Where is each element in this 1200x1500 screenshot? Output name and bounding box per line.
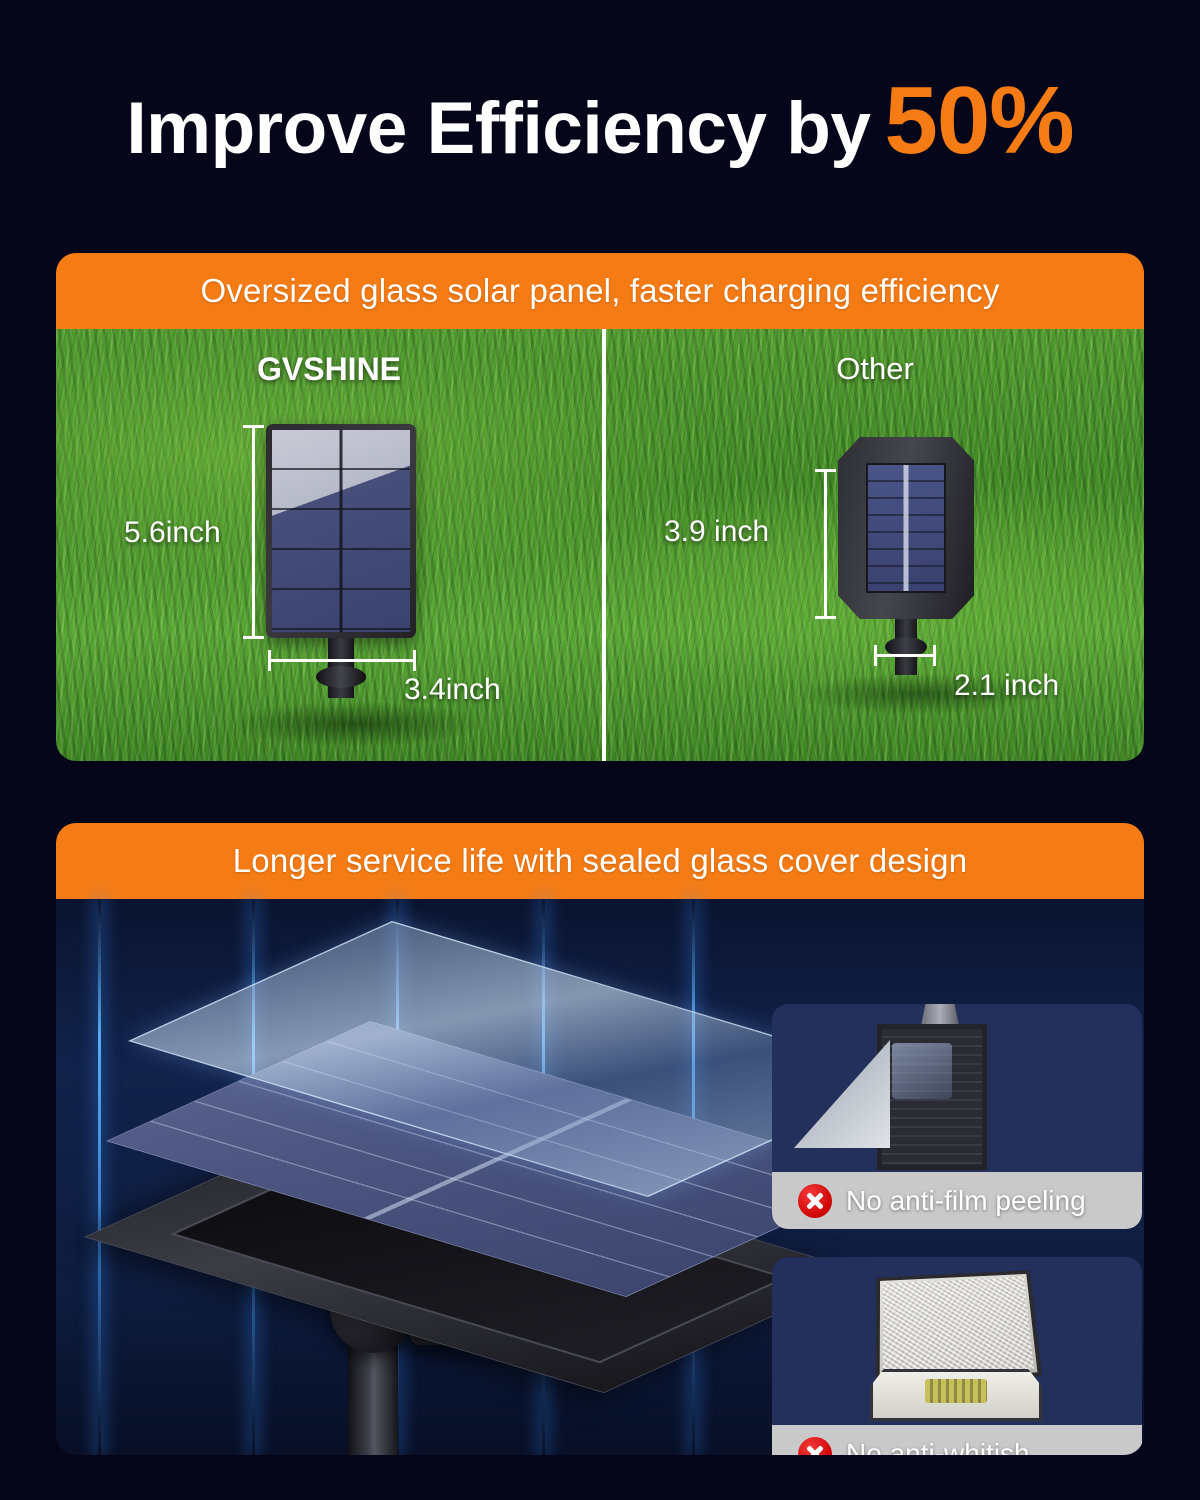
callout-whitish-text: No anti-whitish [846, 1438, 1030, 1456]
whitish-panel-surface [875, 1270, 1042, 1385]
gvshine-width-dimension-line [268, 659, 416, 662]
photo-peeling-film [772, 1004, 1142, 1172]
gvshine-height-label: 5.6inch [124, 516, 221, 550]
gvshine-width-label: 3.4inch [404, 673, 501, 707]
red-x-icon [798, 1184, 832, 1218]
peel-photo-panel [877, 1024, 987, 1170]
section-two-banner: Longer service life with sealed glass co… [56, 823, 1144, 899]
other-cell-grid [866, 463, 946, 593]
section-one-banner-text: Oversized glass solar panel, faster char… [200, 272, 999, 310]
gvshine-collar [316, 666, 366, 688]
section-glass-cover: Longer service life with sealed glass co… [56, 823, 1144, 1455]
gvshine-solar-lamp [266, 424, 416, 638]
grass-background: GVSHINE 5.6inch 3.4inch Other [56, 329, 1144, 761]
gvshine-solar-panel [266, 424, 416, 638]
mounting-pole [348, 1337, 398, 1455]
page-headline: Improve Efficiency by 50% [0, 78, 1200, 188]
brand-label-other: Other [606, 351, 1144, 387]
comparison-side-other: Other 3.9 inch 2.1 inch [606, 329, 1144, 761]
blue-light-background: No anti-film peeling No anti-whitish [56, 899, 1144, 1455]
exploded-product-diagram [80, 937, 700, 1337]
gvshine-height-dimension-line [252, 425, 255, 639]
red-x-icon [798, 1437, 832, 1456]
inset-card-film-peeling: No anti-film peeling [772, 1004, 1142, 1229]
other-height-label: 3.9 inch [664, 515, 769, 549]
inset-card-whitish: No anti-whitish [772, 1257, 1142, 1455]
headline-main-text: Improve Efficiency by [126, 87, 870, 170]
gvshine-cell-grid [272, 430, 410, 632]
section-two-banner-text: Longer service life with sealed glass co… [233, 842, 968, 880]
other-lamp-housing [838, 437, 974, 619]
section-panel-comparison: Oversized glass solar panel, faster char… [56, 253, 1144, 761]
headline-accent-value: 50% [884, 78, 1073, 164]
brand-label-gvshine: GVSHINE [56, 351, 602, 388]
callout-whitish: No anti-whitish [772, 1425, 1142, 1455]
other-width-dimension-line [874, 654, 936, 657]
photo-whitish-lamp [772, 1257, 1142, 1425]
callout-film-peeling-text: No anti-film peeling [846, 1185, 1086, 1217]
peeling-film-sheet [794, 1040, 890, 1148]
whitish-led-module [870, 1369, 1042, 1421]
other-height-dimension-line [824, 469, 827, 619]
other-width-label: 2.1 inch [954, 669, 1059, 703]
comparison-divider [602, 329, 606, 761]
callout-film-peeling: No anti-film peeling [772, 1172, 1142, 1229]
other-solar-lamp [838, 437, 974, 619]
peel-photo-reflection [892, 1043, 952, 1099]
gvshine-ground-shadow [226, 701, 486, 747]
comparison-side-gvshine: GVSHINE 5.6inch 3.4inch [56, 329, 602, 761]
section-one-banner: Oversized glass solar panel, faster char… [56, 253, 1144, 329]
